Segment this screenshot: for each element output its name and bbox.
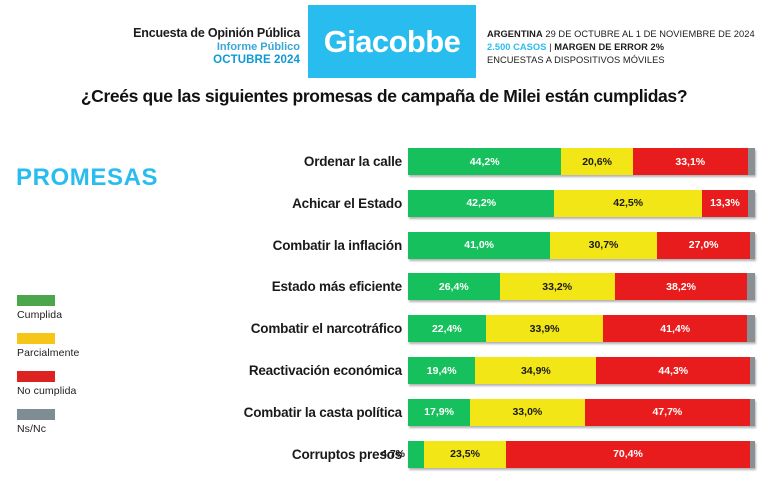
bar-value-label: 33,2% [542,281,572,293]
header-margin-of-error: MARGEN DE ERROR 2% [554,42,664,52]
bar-value-label: 13,3% [710,197,740,209]
bar-segment-ns-nc [747,273,755,300]
header-report-subtitle: Informe Público [118,41,300,54]
bar-value-label: 38,2% [666,281,696,293]
header-dates: 29 DE OCTUBRE AL 1 DE NOVIEMBRE DE 2024 [543,29,755,39]
bar-value-label: 22,4% [432,323,462,335]
bar-category-label: Achicar el Estado [200,190,402,217]
bar-value-label: 19,4% [427,365,457,377]
bar-value-label: 20,6% [582,156,612,168]
bar-segment-cumplida: 41,0% [408,232,550,259]
bar-value-label: 33,9% [530,323,560,335]
bar-value-label: 42,2% [466,197,496,209]
bar-segment-cumplida: 42,2% [408,190,554,217]
bar-category-label: Estado más eficiente [200,273,402,300]
chart-row: Estado más eficiente26,4%33,2%38,2% [0,273,768,307]
bar-segment-no-cumplida: 70,4% [506,441,750,468]
stacked-bar: 26,4%33,2%38,2% [408,273,755,300]
chart-row: Ordenar la calle44,2%20,6%33,1% [0,148,768,182]
page-title: ¿Creés que las siguientes promesas de ca… [0,86,768,107]
bar-category-label: Corruptos presos [200,441,402,468]
bar-value-label: 44,2% [470,156,500,168]
bar-segment-cumplida: 17,9% [408,399,470,426]
bar-value-label: 33,0% [512,406,542,418]
giacobbe-logo-text: Giacobbe [324,24,460,60]
bar-segment-cumplida: 19,4% [408,357,475,384]
bar-category-label: Reactivación económica [200,357,402,384]
bar-segment-ns-nc [750,399,755,426]
bar-value-label: 44,3% [658,365,688,377]
bar-value-label: 42,5% [613,197,643,209]
bar-segment-ns-nc [748,190,755,217]
stacked-bar: 44,2%20,6%33,1% [408,148,755,175]
bar-segment-parcialmente: 42,5% [554,190,701,217]
bar-segment-parcialmente: 34,9% [475,357,596,384]
bar-segment-no-cumplida: 33,1% [633,148,748,175]
stacked-bar: 41,0%30,7%27,0% [408,232,755,259]
bar-segment-parcialmente: 33,9% [486,315,604,342]
bar-segment-cumplida: 4,7% [408,441,424,468]
header-report-date: OCTUBRE 2024 [118,54,300,68]
bar-segment-parcialmente: 23,5% [424,441,506,468]
bar-segment-no-cumplida: 38,2% [615,273,748,300]
bar-segment-no-cumplida: 41,4% [603,315,747,342]
chart-row: Achicar el Estado42,2%42,5%13,3% [0,190,768,224]
bar-category-label: Ordenar la calle [200,148,402,175]
bar-value-label: 17,9% [424,406,454,418]
bar-value-label: 47,7% [652,406,682,418]
bar-segment-no-cumplida: 44,3% [596,357,750,384]
chart-row: Reactivación económica19,4%34,9%44,3% [0,357,768,391]
bar-segment-parcialmente: 30,7% [550,232,657,259]
bar-value-label: 34,9% [521,365,551,377]
bar-category-label: Combatir el narcotráfico [200,315,402,342]
stacked-bar: 4,7%23,5%70,4% [408,441,755,468]
header-survey-title: Encuesta de Opinión Pública [118,26,300,41]
bar-value-label: 4,7% [381,448,405,460]
bar-value-label: 70,4% [613,448,643,460]
bar-segment-parcialmente: 33,2% [500,273,615,300]
chart-row: Combatir el narcotráfico22,4%33,9%41,4% [0,315,768,349]
bar-segment-cumplida: 26,4% [408,273,500,300]
header-fieldwork-row: ARGENTINA 29 DE OCTUBRE AL 1 DE NOVIEMBR… [487,28,762,41]
bar-value-label: 26,4% [439,281,469,293]
stacked-bar: 19,4%34,9%44,3% [408,357,755,384]
report-header: Encuesta de Opinión Pública Informe Públ… [0,0,768,84]
bar-segment-ns-nc [750,441,755,468]
bar-value-label: 41,0% [464,239,494,251]
bar-segment-parcialmente: 33,0% [470,399,585,426]
bar-segment-no-cumplida: 47,7% [585,399,751,426]
bar-category-label: Combatir la casta política [200,399,402,426]
stacked-bar-chart: Ordenar la calle44,2%20,6%33,1%Achicar e… [0,140,768,479]
bar-value-label: 41,4% [660,323,690,335]
header-title-block: Encuesta de Opinión Pública Informe Públ… [118,26,300,67]
giacobbe-logo: Giacobbe [308,5,476,78]
bar-segment-no-cumplida: 27,0% [657,232,751,259]
bar-segment-ns-nc [748,148,755,175]
bar-category-label: Combatir la inflación [200,232,402,259]
bar-segment-ns-nc [750,232,755,259]
stacked-bar: 17,9%33,0%47,7% [408,399,755,426]
chart-row: Corruptos presos4,7%23,5%70,4% [0,441,768,475]
header-sample-row: 2.500 CASOS | MARGEN DE ERROR 2% [487,41,762,54]
header-methodology-block: ARGENTINA 29 DE OCTUBRE AL 1 DE NOVIEMBR… [487,28,762,68]
bar-value-label: 27,0% [689,239,719,251]
bar-segment-ns-nc [750,357,755,384]
bar-segment-no-cumplida: 13,3% [702,190,748,217]
stacked-bar: 42,2%42,5%13,3% [408,190,755,217]
bar-value-label: 23,5% [450,448,480,460]
header-cases: 2.500 CASOS [487,42,546,52]
header-country: ARGENTINA [487,29,543,39]
bar-value-label: 30,7% [589,239,619,251]
chart-row: Combatir la inflación41,0%30,7%27,0% [0,232,768,266]
chart-row: Combatir la casta política17,9%33,0%47,7… [0,399,768,433]
bar-value-label: 33,1% [675,156,705,168]
bar-segment-parcialmente: 20,6% [561,148,632,175]
bar-segment-cumplida: 22,4% [408,315,486,342]
stacked-bar: 22,4%33,9%41,4% [408,315,755,342]
bar-segment-ns-nc [747,315,755,342]
bar-segment-cumplida: 44,2% [408,148,561,175]
header-method: ENCUESTAS A DISPOSITIVOS MÓVILES [487,54,762,67]
